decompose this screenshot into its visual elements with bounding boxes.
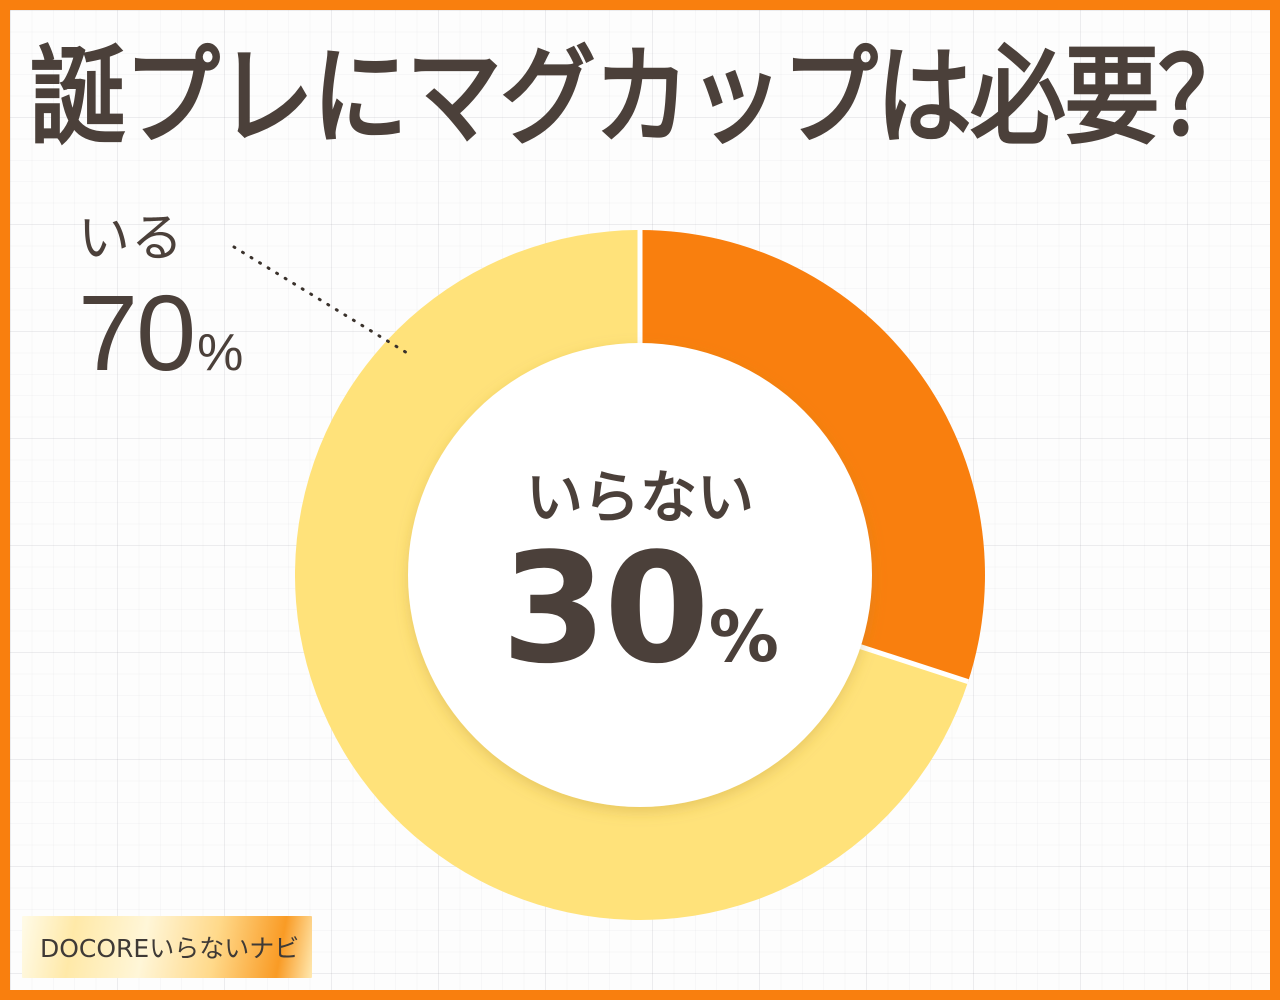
logo-text: DOCOREいらないナビ: [22, 929, 299, 965]
logo: DOCOREいらないナビ: [22, 916, 312, 978]
page-title: 誕プレにマグカップは必要？: [30, 38, 1255, 156]
donut-chart-svg: [295, 230, 985, 920]
chart-page: 誕プレにマグカップは必要？ いらない 30 %: [0, 0, 1280, 1000]
donut-chart: [295, 230, 985, 920]
donut-hole: [408, 343, 872, 807]
page-title-text: 誕プレにマグカップは必要？: [30, 43, 1252, 151]
